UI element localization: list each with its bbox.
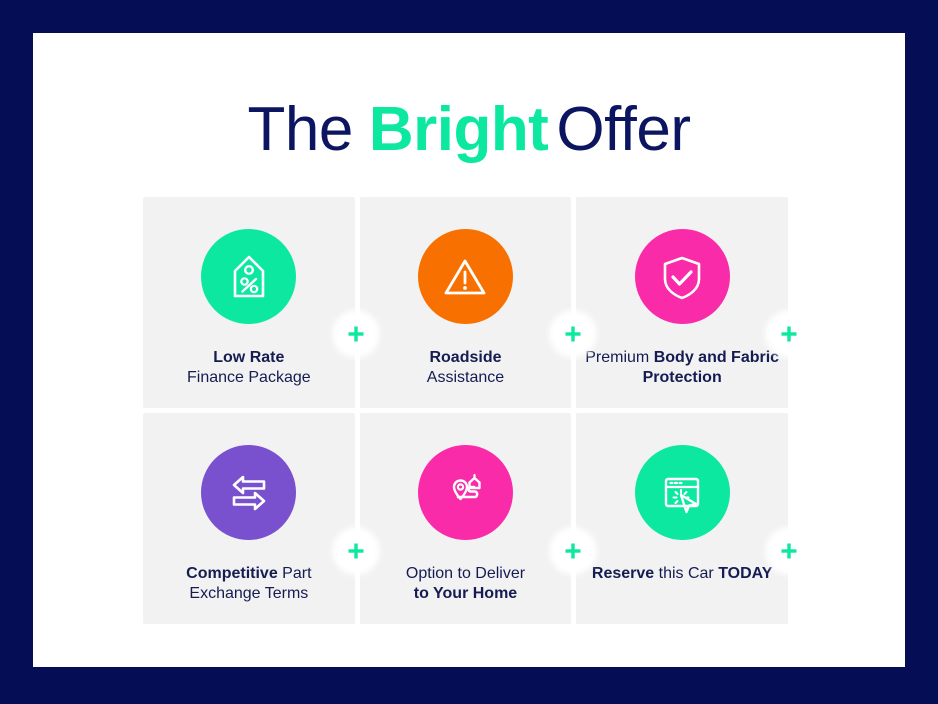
title-word-offer: Offer <box>550 95 690 164</box>
offer-card-label-3: Premium Body and Fabric Protection <box>576 348 788 389</box>
plus-icon <box>346 541 366 561</box>
offer-card-label-6-rest: TODAY <box>718 565 772 582</box>
offer-card-label-2-rest: Assistance <box>427 369 504 386</box>
plus-connector-row2-2 <box>554 532 592 570</box>
page-title: TheBrightOffer <box>33 96 905 164</box>
offer-card-roadside-assistance[interactable]: Roadside Assistance <box>360 197 572 408</box>
offer-card-label-1: Low Rate Finance Package <box>179 348 319 389</box>
offer-card-label-4-lead: Competitive <box>186 565 278 582</box>
icon-circle-3 <box>635 229 730 324</box>
offer-card-label-4: Competitive Part Exchange Terms <box>143 564 355 605</box>
shield-check-icon <box>656 251 708 303</box>
offer-card-label-1-rest: Finance Package <box>187 369 311 386</box>
offer-card-label-2: Roadside Assistance <box>419 348 512 389</box>
offer-card-option-to-deliver-to-your-home[interactable]: Option to Deliver to Your Home <box>360 413 572 624</box>
exchange-arrows-icon <box>222 466 276 520</box>
title-word-bright: Bright <box>367 95 551 164</box>
offer-card-label-3-rest: Body and Fabric Protection <box>643 349 779 386</box>
offer-card-label-5: Option to Deliver to Your Home <box>398 564 533 605</box>
offer-card-grid: Low Rate Finance Package Roadside Assist… <box>143 197 788 624</box>
offer-card-competitive-part-exchange-terms[interactable]: Competitive Part Exchange Terms <box>143 413 355 624</box>
slide-canvas: TheBrightOffer Low Rate Finance Package <box>0 0 938 704</box>
price-tag-percent-icon <box>223 251 275 303</box>
map-pin-route-home-icon <box>438 466 492 520</box>
plus-icon <box>779 541 799 561</box>
plus-icon <box>563 541 583 561</box>
icon-circle-6 <box>635 445 730 540</box>
icon-circle-4 <box>201 445 296 540</box>
plus-icon <box>346 324 366 344</box>
offer-card-label-5-rest: to Your Home <box>414 585 517 602</box>
white-content-panel: TheBrightOffer Low Rate Finance Package <box>33 33 905 667</box>
offer-card-label-2-lead: Roadside <box>429 349 501 366</box>
offer-card-premium-body-fabric-protection[interactable]: Premium Body and Fabric Protection <box>576 197 788 408</box>
browser-cursor-click-icon <box>655 466 709 520</box>
offer-card-label-6-mid: this Car <box>654 565 718 582</box>
plus-connector-row1-1 <box>337 315 375 353</box>
plus-icon <box>779 324 799 344</box>
plus-icon <box>563 324 583 344</box>
plus-connector-row2-3 <box>770 532 808 570</box>
offer-card-label-5-lead: Option to Deliver <box>406 565 525 582</box>
plus-connector-row1-3 <box>770 315 808 353</box>
offer-card-label-6-lead: Reserve <box>592 565 654 582</box>
offer-card-label-6: Reserve this Car TODAY <box>584 564 781 584</box>
warning-triangle-icon <box>439 251 491 303</box>
offer-card-reserve-this-car-today[interactable]: Reserve this Car TODAY <box>576 413 788 624</box>
offer-card-label-3-lead: Premium <box>585 349 649 366</box>
icon-circle-2 <box>418 229 513 324</box>
icon-circle-5 <box>418 445 513 540</box>
plus-connector-row1-2 <box>554 315 592 353</box>
offer-card-low-rate-finance-package[interactable]: Low Rate Finance Package <box>143 197 355 408</box>
offer-card-label-1-lead: Low Rate <box>213 349 284 366</box>
title-word-the: The <box>247 95 366 164</box>
icon-circle-1 <box>201 229 296 324</box>
plus-connector-row2-1 <box>337 532 375 570</box>
